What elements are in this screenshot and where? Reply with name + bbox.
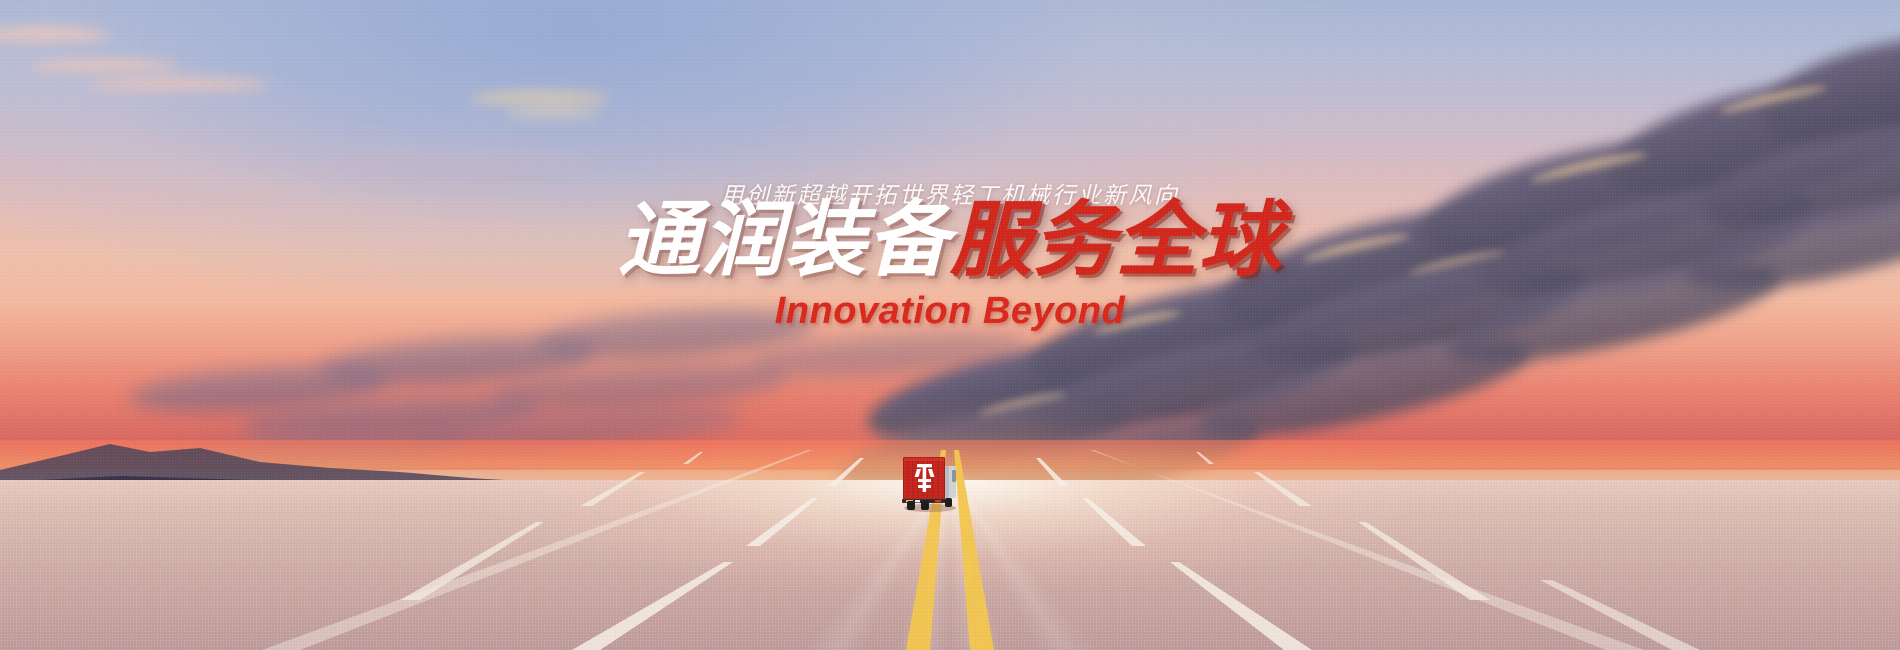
red-box-truck: [891, 450, 969, 512]
hero-banner: 用创新超越开拓世界轻工机械行业新风向 通润装备服务全球 Innovation B…: [0, 0, 1900, 650]
